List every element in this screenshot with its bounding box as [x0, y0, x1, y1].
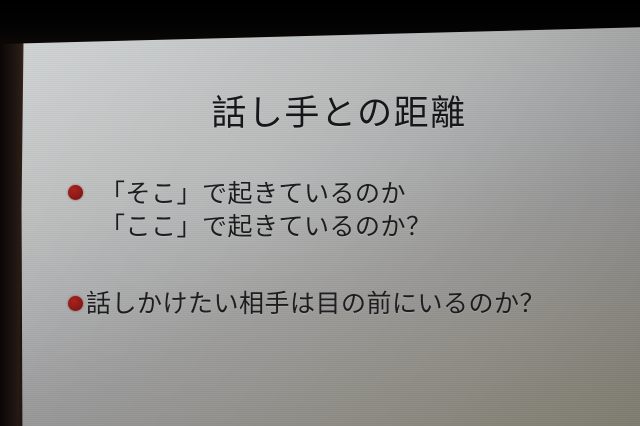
bullet-dot-icon [68, 185, 83, 200]
bullet-item-1-text: 「そこ」で起きているのか 「ここ」で起きているのか？ [100, 177, 432, 243]
bullet-item-1: 「そこ」で起きているのか 「ここ」で起きているのか？ [68, 177, 432, 243]
bullet-dot-icon [68, 296, 83, 311]
bullet-item-2: 話しかけたい相手は目の前にいるのか？ [68, 287, 545, 320]
presentation-slide: 話し手との距離 「そこ」で起きているのか 「ここ」で起きているのか？ 話しかけた… [19, 26, 640, 426]
projection-screen: 話し手との距離 「そこ」で起きているのか 「ここ」で起きているのか？ 話しかけた… [19, 26, 640, 426]
bullet-item-2-line-1: 話しかけたい相手は目の前にいるのか？ [86, 287, 545, 320]
screenshot-stage: 話し手との距離 「そこ」で起きているのか 「ここ」で起きているのか？ 話しかけた… [0, 0, 640, 426]
bullet-item-1-line-1: 「そこ」で起きているのか [100, 177, 432, 210]
bullet-item-1-line-2: 「ここ」で起きているのか？ [100, 210, 432, 243]
slide-title: 話し手との距離 [19, 92, 640, 136]
bullet-item-2-text: 話しかけたい相手は目の前にいるのか？ [86, 287, 545, 320]
